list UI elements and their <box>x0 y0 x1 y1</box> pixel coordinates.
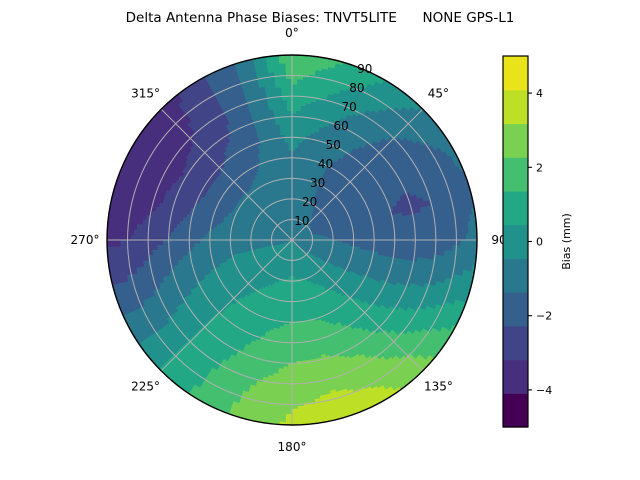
figure-canvas: Delta Antenna Phase Biases: TNVT5LITE NO… <box>0 0 640 480</box>
page-title: Delta Antenna Phase Biases: TNVT5LITE NO… <box>0 10 640 26</box>
polar-contour-plot: 0°45°90135°180°225°270°315° 102030405060… <box>0 0 640 480</box>
